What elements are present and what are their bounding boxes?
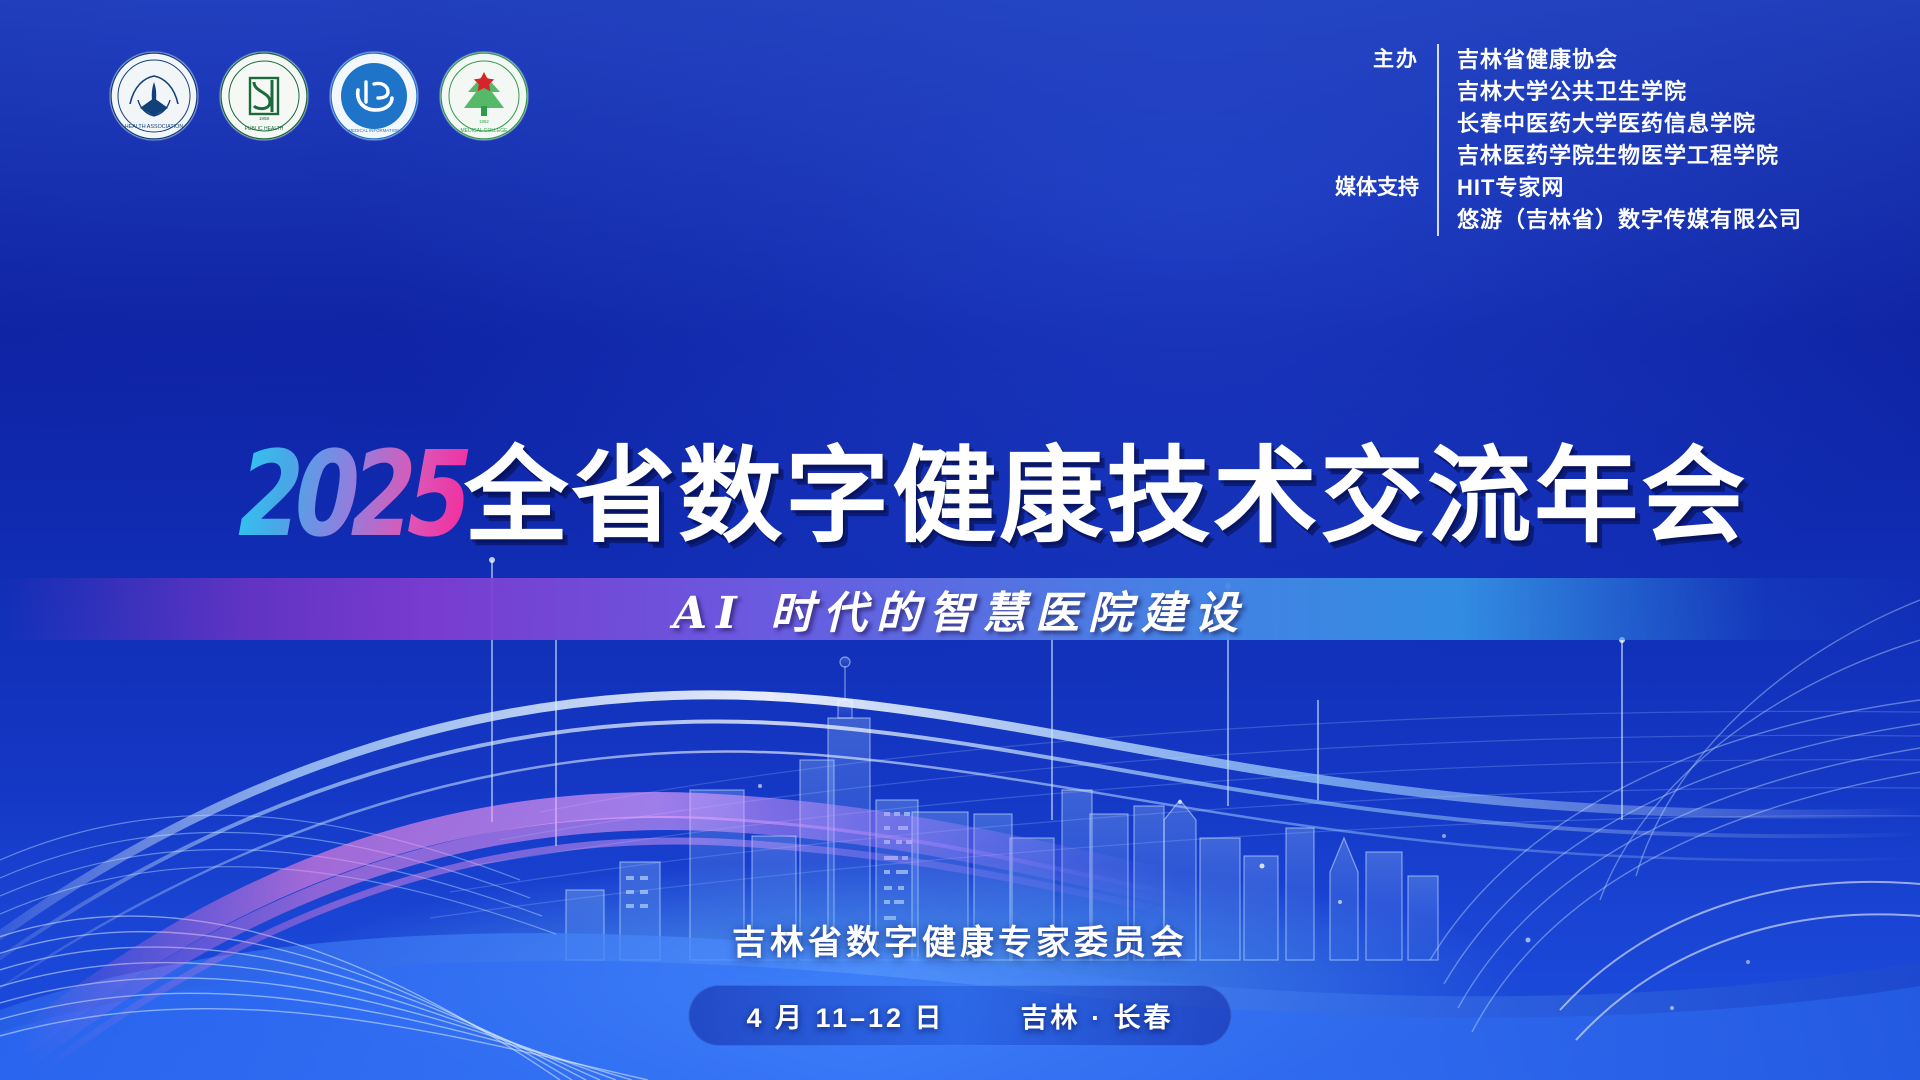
host-label: 主办 (1317, 44, 1437, 76)
svg-text:1952: 1952 (479, 119, 489, 124)
event-location: 吉林 · 长春 (1021, 996, 1174, 1035)
subtitle: AI 时代的智慧医院建设 (0, 578, 1920, 640)
year-2025: 2025 (237, 440, 473, 549)
organizer-logos: HEALTH ASSOCIATION 1958 PUBLIC HEALTH (110, 52, 528, 140)
jilin-health-association-logo: HEALTH ASSOCIATION (110, 52, 198, 140)
page-title: 全省数字健康技术交流年会 (464, 445, 1748, 549)
svg-text:HEALTH ASSOCIATION: HEALTH ASSOCIATION (125, 124, 184, 130)
host-name: 吉林省健康协会 (1457, 44, 1779, 76)
host-name: 吉林大学公共卫生学院 (1457, 76, 1779, 108)
host-list: 吉林省健康协会 吉林大学公共卫生学院 长春中医药大学医药信息学院 吉林医药学院生… (1437, 44, 1779, 172)
title-block: 2025 全省数字健康技术交流年会 (0, 440, 1920, 549)
svg-text:MEDICAL COLLEGE: MEDICAL COLLEGE (460, 128, 508, 134)
organizer-credits: 主办 吉林省健康协会 吉林大学公共卫生学院 长春中医药大学医药信息学院 吉林医药… (1317, 44, 1802, 236)
media-row: 媒体支持 HIT专家网 悠游（吉林省）数字传媒有限公司 (1317, 172, 1802, 236)
media-name: HIT专家网 (1457, 172, 1802, 204)
host-row: 主办 吉林省健康协会 吉林大学公共卫生学院 长春中医药大学医药信息学院 吉林医药… (1317, 44, 1802, 172)
school-of-medical-information-logo: MEDICAL INFORMATION (330, 52, 418, 140)
school-of-public-health-jlu-logo: 1958 PUBLIC HEALTH (220, 52, 308, 140)
media-support-label: 媒体支持 (1317, 172, 1437, 204)
media-name: 悠游（吉林省）数字传媒有限公司 (1457, 204, 1802, 236)
jilin-medical-college-logo: 1952 MEDICAL COLLEGE (440, 52, 528, 140)
svg-text:PUBLIC HEALTH: PUBLIC HEALTH (245, 126, 284, 132)
svg-text:MEDICAL INFORMATION: MEDICAL INFORMATION (349, 128, 400, 133)
svg-text:1958: 1958 (259, 116, 270, 121)
conference-banner: HEALTH ASSOCIATION 1958 PUBLIC HEALTH (0, 0, 1920, 1080)
host-name: 吉林医药学院生物医学工程学院 (1457, 140, 1779, 172)
event-date: 4 月 11–12 日 (746, 996, 944, 1035)
host-name: 长春中医药大学医药信息学院 (1457, 108, 1779, 140)
date-location-pill: 4 月 11–12 日 吉林 · 长春 (688, 985, 1231, 1046)
committee-name: 吉林省数字健康专家委员会 (0, 915, 1920, 964)
media-list: HIT专家网 悠游（吉林省）数字传媒有限公司 (1437, 172, 1802, 236)
